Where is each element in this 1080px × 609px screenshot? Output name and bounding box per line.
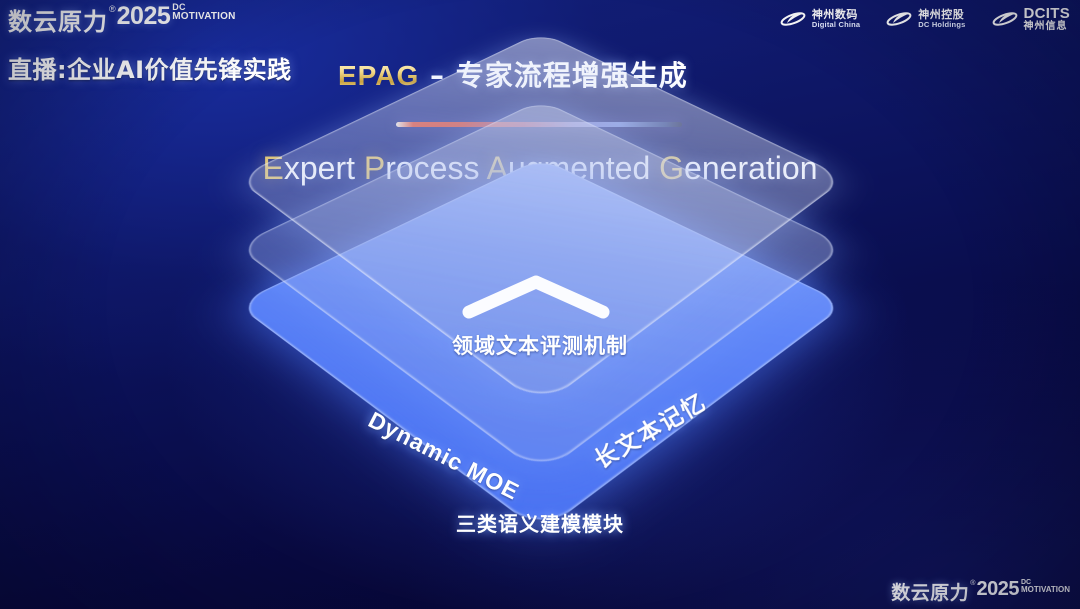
watermark-motivation: MOTIVATION [1021,586,1070,594]
watermark-registered-mark: ® [970,580,975,587]
layer-stack-diagram: 领域文本评测机制 Dynamic MOE 长文本记忆 三类语义建模模块 [0,0,1080,609]
watermark-year: 2025 [976,578,1019,601]
layer-top-label: 领域文本评测机制 [0,330,1080,360]
watermark-name-cn: 数云原力 [891,578,969,605]
watermark-logo: 数云原力 ® 2025 DC MOTIVATION [891,578,1070,605]
layer-bottom-label: 三类语义建模模块 [0,508,1080,537]
layer-top [0,0,1080,162]
chevron-up-icon [461,272,611,320]
presentation-slide: 数云原力 ® 2025 DC MOTIVATION 直播:企业AI价值先锋实践 … [0,0,1080,609]
watermark-subtitle: DC MOTIVATION [1021,579,1070,594]
